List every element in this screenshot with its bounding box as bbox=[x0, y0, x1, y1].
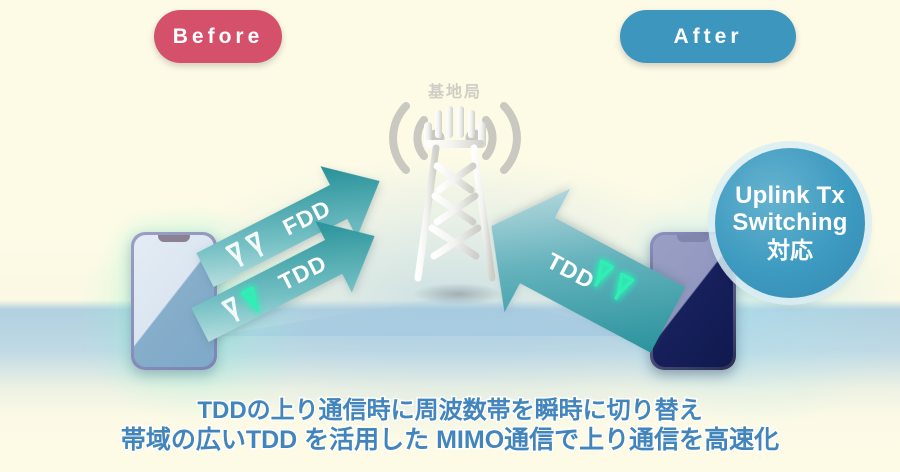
smartphone-before bbox=[131, 232, 217, 370]
antenna-active-icon bbox=[610, 274, 632, 302]
arrow-fdd-label: FDD bbox=[278, 194, 335, 240]
badge-after-label: After bbox=[673, 25, 742, 49]
signal-waves-left-icon bbox=[393, 106, 424, 170]
badge-line-2: Switching bbox=[732, 210, 847, 237]
antenna-icon bbox=[223, 298, 243, 323]
smartphone-before-notch bbox=[158, 235, 190, 242]
antenna-icon bbox=[227, 243, 247, 268]
badge-line-3: 対応 bbox=[767, 238, 813, 264]
badge-line-1: Uplink Tx bbox=[735, 183, 845, 210]
signal-waves-right-icon bbox=[486, 106, 517, 170]
smartphone-after-notch bbox=[677, 235, 709, 242]
uplink-tx-switching-badge: Uplink Tx Switching 対応 bbox=[715, 148, 865, 298]
infographic-canvas: Before After 基地局 bbox=[0, 0, 900, 472]
caption-line-1: TDDの上り通信時に周波数帯を瞬時に切り替え bbox=[0, 396, 900, 425]
caption: TDDの上り通信時に周波数帯を瞬時に切り替え 帯域の広いTDD を活用した MI… bbox=[0, 396, 900, 456]
antenna-active-icon bbox=[590, 261, 612, 289]
antenna-icon bbox=[247, 233, 267, 258]
badge-after: After bbox=[620, 10, 796, 63]
arrow-tdd-before-antennas bbox=[223, 288, 263, 323]
antenna-active-icon bbox=[243, 288, 263, 313]
badge-before: Before bbox=[154, 10, 282, 63]
cell-tower-icon bbox=[340, 78, 570, 328]
smartphone-before-screen bbox=[134, 235, 214, 367]
arrow-tdd-after-antennas bbox=[589, 261, 633, 302]
arrow-fdd-antennas bbox=[227, 233, 267, 268]
badge-before-label: Before bbox=[173, 25, 264, 49]
caption-line-2: 帯域の広いTDD を活用した MIMO通信で上り通信を高速化 bbox=[0, 425, 900, 456]
base-station-group: 基地局 bbox=[340, 78, 570, 328]
arrow-tdd-before-label: TDD bbox=[274, 249, 331, 295]
smartphone-after-screen bbox=[653, 235, 733, 367]
